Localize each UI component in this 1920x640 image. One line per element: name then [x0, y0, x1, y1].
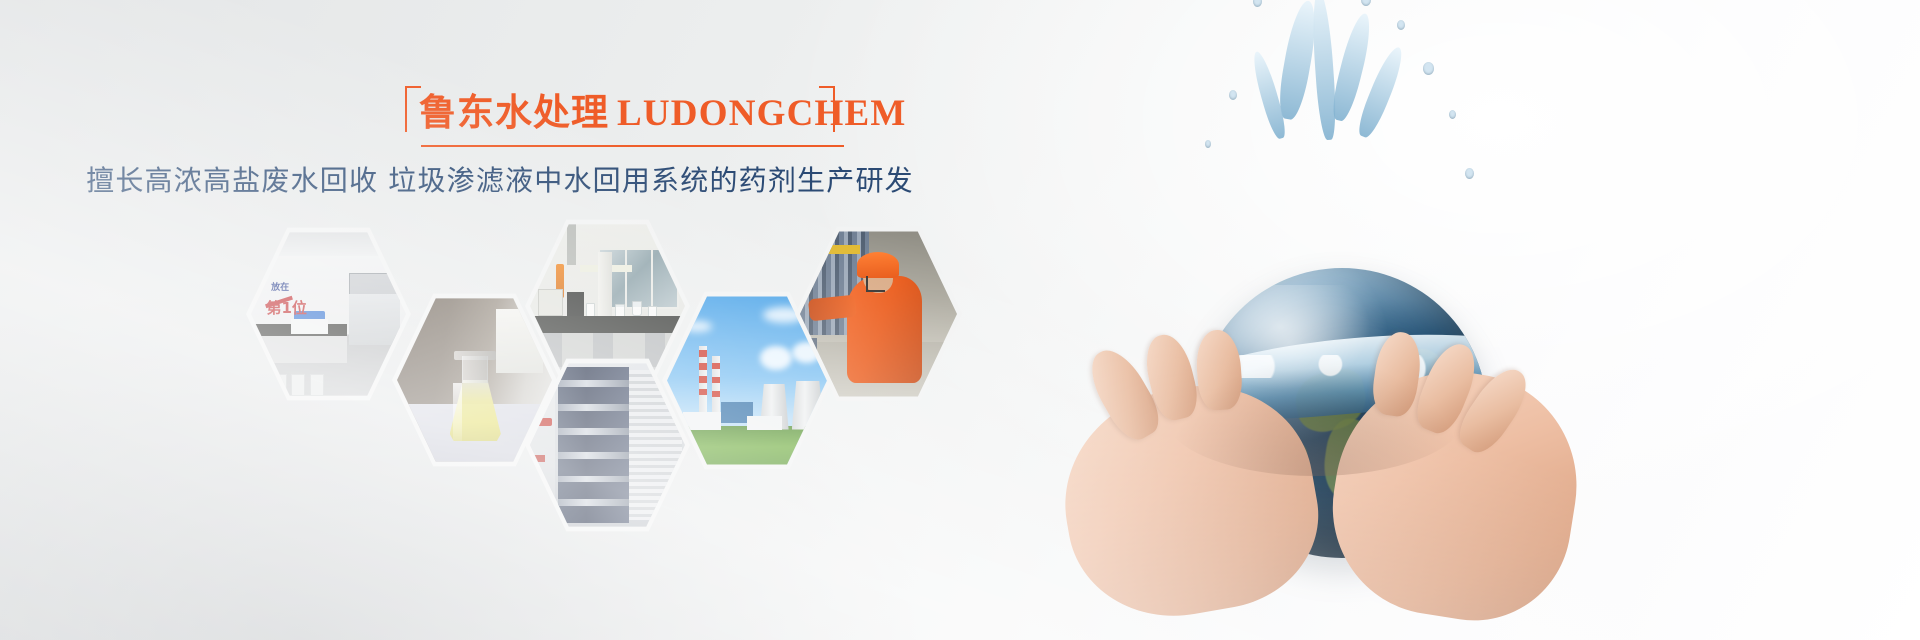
droplet	[1449, 110, 1456, 119]
membrane-vessel	[558, 380, 629, 387]
flask-highlight	[453, 383, 462, 441]
window-mullion	[651, 250, 653, 307]
worker-coverall	[847, 276, 922, 383]
droplet	[1397, 20, 1405, 30]
membrane-vessel	[558, 404, 629, 411]
chemical-jug	[310, 374, 324, 396]
stack-band	[699, 376, 707, 382]
stack-band	[712, 363, 720, 369]
water-globe-artwork	[1045, 0, 1605, 640]
ceiling	[251, 229, 406, 256]
dark-instrument	[567, 292, 584, 316]
membrane-vessel	[558, 499, 629, 506]
wall-slogan-top: 放在	[271, 280, 289, 293]
plant-building	[747, 416, 782, 430]
droplet	[1465, 168, 1474, 179]
hands-holding-globe	[1045, 330, 1605, 640]
flask-lip	[454, 351, 496, 360]
window-mullion	[625, 250, 627, 307]
splash-jet	[1310, 0, 1338, 140]
membrane-vessel	[558, 452, 629, 459]
droplet	[1205, 140, 1211, 148]
membrane-vessel	[558, 428, 629, 435]
chin-strap	[866, 276, 885, 291]
stack-band	[712, 391, 720, 397]
hex-photo-cluster: 放在 第1位	[0, 0, 1920, 640]
glassware	[632, 301, 641, 316]
lab-oven	[538, 289, 563, 316]
ceiling-beam	[567, 221, 576, 265]
droplet	[1253, 0, 1262, 7]
stack-band	[712, 377, 720, 383]
membrane-vessel	[558, 476, 629, 483]
wall-slogan-main: 第1位	[267, 297, 307, 318]
palm-shadow	[1165, 356, 1465, 476]
steam-plume	[760, 346, 792, 371]
droplet	[1361, 0, 1371, 6]
stack-band	[699, 350, 707, 356]
photo-lab-room: 放在 第1位	[251, 229, 406, 399]
hero-banner: 鲁东水处理LUDONGCHEM 擅长高浓高盐废水回收 垃圾渗滤液中水回用系统的药…	[0, 0, 1920, 640]
cabinet-lower	[349, 294, 400, 345]
chemical-jug	[291, 374, 305, 396]
hex-tile-lab-room[interactable]: 放在 第1位	[246, 224, 411, 404]
white-instrument	[291, 319, 328, 334]
hard-hat-icon	[857, 252, 899, 278]
droplet	[1229, 90, 1237, 100]
flask-neck	[462, 356, 488, 383]
bench-top	[530, 316, 685, 333]
droplet	[1423, 62, 1434, 75]
stack-band	[699, 389, 707, 395]
stack-band	[699, 363, 707, 369]
